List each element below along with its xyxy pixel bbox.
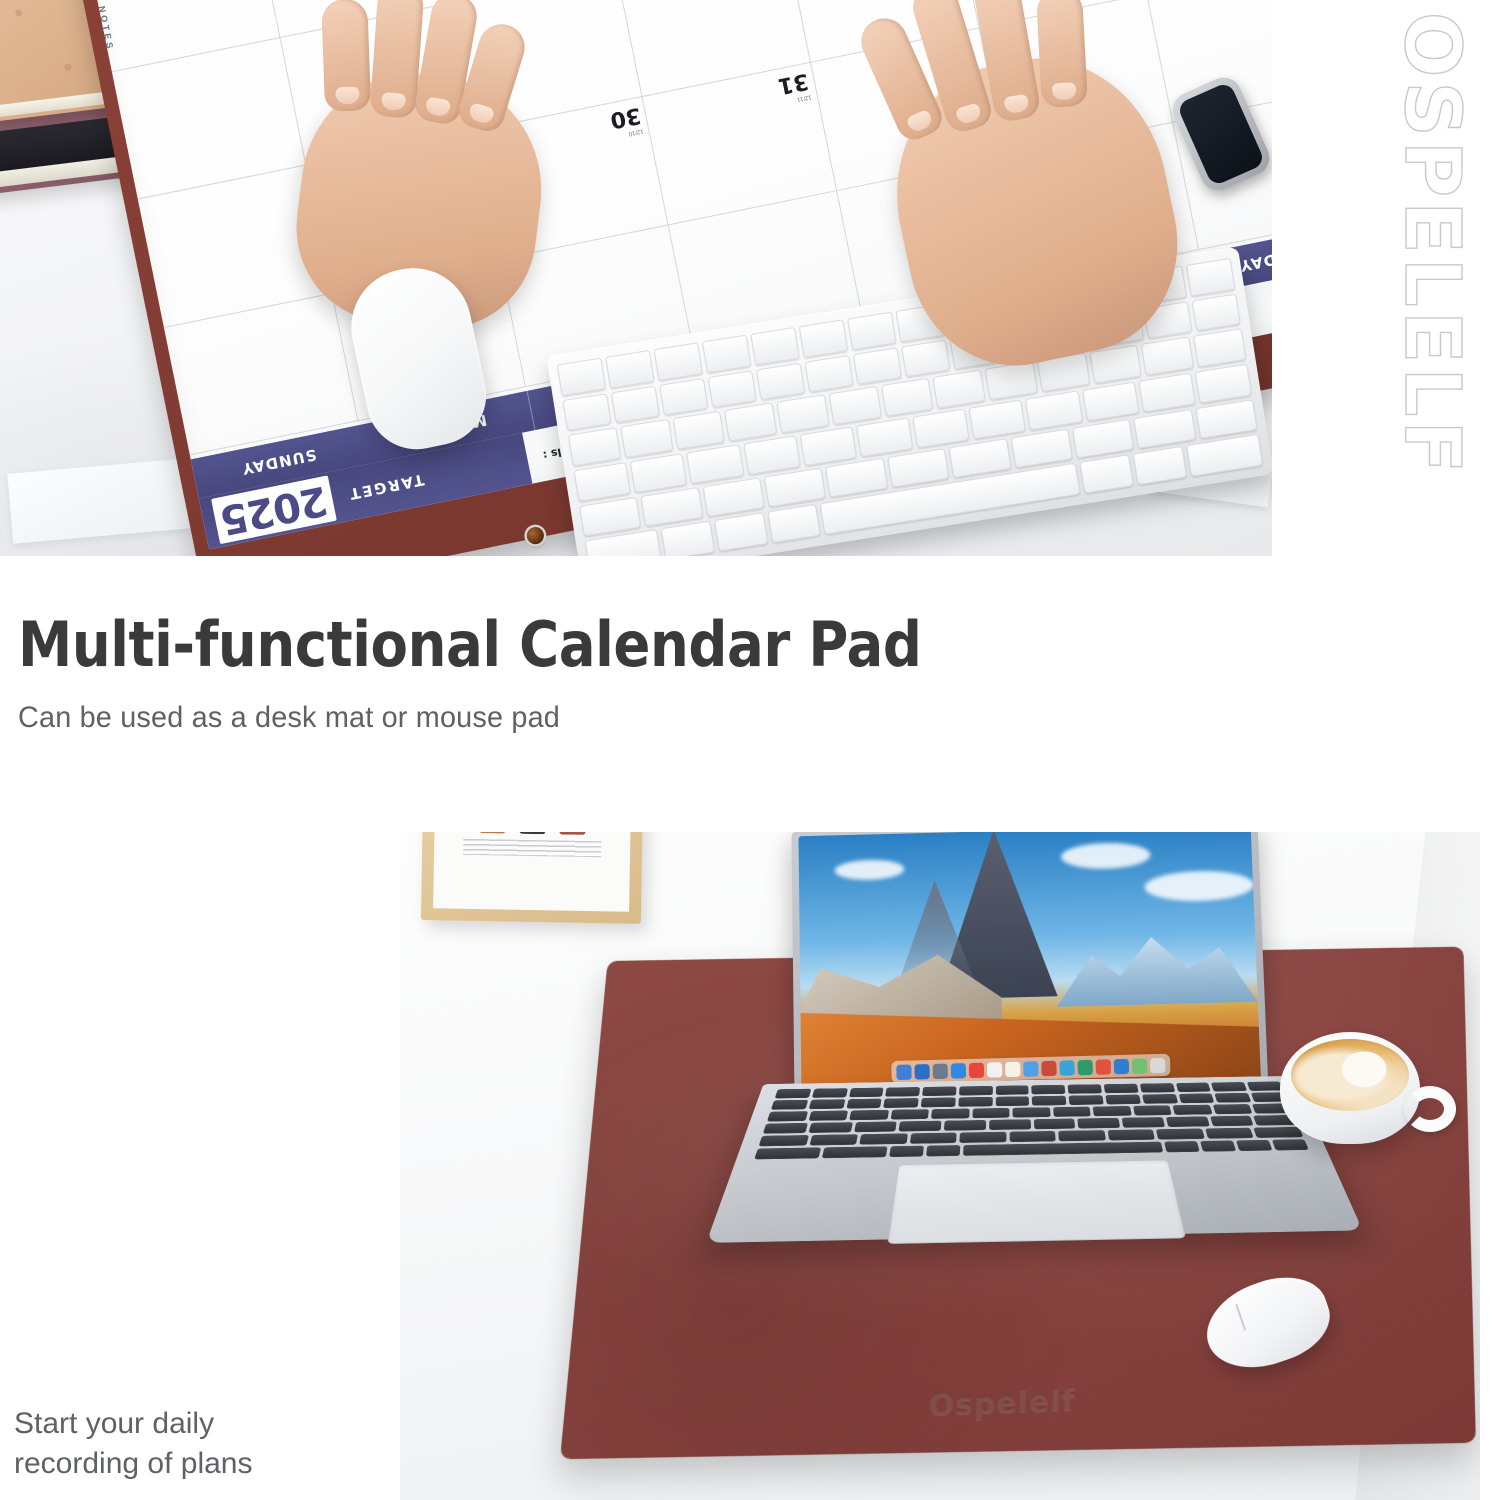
laptop-lid: MacBook Pro [791, 832, 1268, 1104]
keyboard-key [799, 426, 856, 466]
laptop-key [754, 1147, 821, 1159]
keyboard-key [1133, 446, 1187, 485]
keyboard-key [881, 378, 934, 417]
laptop-key [1213, 1104, 1253, 1114]
keyboard-key [654, 342, 703, 380]
keyboard-key [659, 377, 708, 415]
keyboard-key [825, 457, 888, 497]
laptop-key [959, 1086, 993, 1096]
keyboard-key [933, 370, 986, 409]
dock-icon [1023, 1061, 1038, 1077]
keyboard-key [611, 385, 660, 423]
laptop-key [775, 1089, 811, 1099]
keyboard-key [1192, 293, 1241, 331]
target-label: TARGET [346, 470, 425, 503]
product-photo-desk-mat: Ospelelf MacBook Pro [400, 832, 1480, 1500]
date-sub-label: 12/11 [797, 93, 812, 102]
coffee-cup [1280, 1032, 1430, 1152]
keyboard-key [1186, 434, 1263, 477]
keyboard-key [641, 487, 704, 527]
keyboard-key [901, 339, 950, 377]
laptop-key [1215, 1093, 1252, 1103]
laptop-key [926, 1145, 960, 1156]
keyboard-key [661, 521, 715, 556]
laptop-key [849, 1088, 884, 1098]
dock-icon [969, 1062, 984, 1078]
laptop-key [859, 1133, 907, 1144]
caption-line-2: recording of plans [14, 1444, 344, 1484]
laptop-key [890, 1109, 929, 1119]
keyboard-key [708, 370, 757, 408]
laptop-keyboard [754, 1081, 1309, 1159]
dock-icon [1077, 1059, 1093, 1075]
laptop-key [963, 1142, 1163, 1156]
laptop-key [1205, 1128, 1254, 1139]
laptop-key [889, 1146, 924, 1157]
laptop-screen [798, 832, 1260, 1091]
headline-block: Multi-functional Calendar Pad Can be use… [18, 612, 1218, 735]
laptop-key [1236, 1140, 1273, 1151]
latte-art-foam [1291, 1039, 1409, 1111]
plant-icon-1 [479, 832, 505, 834]
keyboard-key [724, 403, 777, 442]
laptop-key [1053, 1107, 1091, 1117]
dock-icon [896, 1064, 911, 1080]
keyboard-key [1082, 382, 1139, 422]
keyboard-key [630, 453, 687, 493]
keyboard-key [1193, 328, 1246, 367]
laptop-key [767, 1111, 808, 1121]
laptop-key [822, 1146, 888, 1158]
keyboard-key [743, 435, 800, 475]
laptop-key [921, 1097, 956, 1107]
laptop-key [1105, 1095, 1140, 1105]
cup-body [1280, 1032, 1420, 1144]
laptop-key [1033, 1119, 1075, 1130]
laptop-key [854, 1121, 897, 1132]
bottom-caption: Start your daily recording of plans [14, 1404, 344, 1483]
laptop-key [1068, 1084, 1102, 1094]
laptop-key [883, 1098, 918, 1108]
laptop-base [706, 1076, 1363, 1243]
keyboard-key [605, 350, 654, 388]
macbook-pro: MacBook Pro [765, 832, 1295, 1342]
dock-icon [933, 1063, 948, 1079]
keyboard-key [579, 496, 642, 536]
dock-icon [914, 1064, 929, 1080]
laptop-key [1009, 1131, 1056, 1142]
laptop-key [1093, 1106, 1132, 1116]
keyboard-key [829, 386, 882, 425]
keyboard-key [767, 504, 821, 543]
laptop-key [1013, 1107, 1051, 1117]
laptop-key [944, 1120, 986, 1131]
keyboard-key [776, 394, 829, 433]
frame-caption-lines [463, 839, 600, 857]
laptop-key [1175, 1083, 1211, 1093]
page-title: Multi-functional Calendar Pad [18, 612, 1074, 677]
dock-icon [1041, 1060, 1057, 1076]
keyboard-key [1141, 337, 1194, 376]
plant-icon-3 [559, 832, 585, 835]
plant-icon-2 [519, 832, 545, 834]
laptop-key [1173, 1105, 1213, 1115]
laptop-key [931, 1109, 969, 1119]
keyboard-key [672, 411, 725, 450]
keyboard-key [912, 408, 969, 448]
laptop-key [1104, 1084, 1139, 1094]
laptop-key [759, 1135, 809, 1146]
keyboard-key [804, 355, 853, 393]
dock-icon [1132, 1058, 1148, 1074]
laptop-key [763, 1123, 808, 1134]
laptop-key [849, 1110, 888, 1120]
keyboard-key [1186, 258, 1235, 296]
keyboard-key [887, 448, 950, 488]
keyboard-key [1195, 364, 1252, 404]
laptop-key [909, 1133, 956, 1144]
keyboard-key [1010, 428, 1073, 468]
dock-icon [1059, 1060, 1075, 1076]
laptop-key [1247, 1081, 1283, 1090]
laptop-key [958, 1097, 992, 1107]
keyboard-key [562, 393, 611, 431]
laptop-key [1156, 1129, 1205, 1140]
mat-embossed-logo: Ospelelf [928, 1381, 1075, 1422]
laptop-key [1032, 1096, 1066, 1106]
laptop-key [1032, 1085, 1066, 1095]
dock-icon [1005, 1061, 1020, 1077]
laptop-key [1178, 1093, 1214, 1103]
keyboard-key [969, 399, 1026, 439]
keyboard-key [574, 462, 631, 502]
laptop-key [1140, 1083, 1175, 1093]
keyboard-key [764, 467, 827, 507]
laptop-key [1069, 1095, 1104, 1105]
laptop-key [771, 1100, 808, 1110]
laptop-key [808, 1110, 848, 1120]
keyboard-key [847, 312, 896, 350]
keyboard-key [620, 419, 673, 458]
laptop-key [996, 1085, 1030, 1095]
keyboard-key [1025, 390, 1082, 430]
keyboard-key [856, 417, 913, 457]
keyboard-key [1072, 418, 1135, 458]
keyboard-key [853, 347, 902, 385]
keyboard-key [1089, 345, 1142, 384]
photo-frame-artwork [433, 832, 631, 912]
brand-watermark-text: OSPELELF [1388, 12, 1477, 477]
laptop-key [1164, 1141, 1200, 1152]
product-photo-desk-calendar: JAN 2025FEB 2025MAR 2025APR 2025MAY 2025… [0, 0, 1272, 556]
laptop-key [899, 1121, 942, 1132]
laptop-key [922, 1086, 956, 1096]
laptop-key [1142, 1094, 1178, 1104]
keyboard-key [949, 438, 1012, 478]
keyboard-key [686, 444, 743, 484]
laptop-key [1200, 1140, 1236, 1151]
keyboard-key [714, 513, 768, 552]
caption-line-1: Start your daily [14, 1404, 344, 1444]
date-sub-label: 12/10 [628, 128, 644, 137]
dock-icon [1114, 1058, 1130, 1074]
laptop-key [809, 1134, 858, 1145]
keyboard-key [799, 319, 848, 357]
brand-watermark: OSPELELF [1372, 0, 1492, 520]
page-subtitle: Can be used as a desk mat or mouse pad [18, 701, 1170, 735]
laptop-key [1122, 1117, 1165, 1128]
laptop-key [1078, 1118, 1121, 1129]
keyboard-key [1138, 373, 1195, 413]
keyboard-key [1195, 399, 1258, 439]
plant-illustrations [479, 832, 585, 835]
keyboard-key [702, 477, 765, 517]
keyboard-key [702, 335, 751, 373]
laptop-key [846, 1099, 882, 1109]
laptop-key [812, 1088, 848, 1098]
keyboard-key [985, 361, 1038, 400]
keyboard-key [756, 362, 805, 400]
dock-icon [1096, 1059, 1112, 1075]
keyboard-key [557, 358, 606, 396]
laptop-key [1107, 1129, 1155, 1140]
laptop-key [1211, 1082, 1247, 1092]
laptop-key [1133, 1105, 1172, 1115]
laptop-key [989, 1119, 1031, 1130]
keyboard-key [750, 327, 799, 365]
laptop-key [1210, 1116, 1254, 1127]
laptop-key [808, 1099, 845, 1109]
cup-handle [1404, 1086, 1456, 1132]
snow-mountains [1055, 925, 1258, 1007]
keyboard-key [1133, 409, 1196, 449]
keyboard-key [568, 427, 621, 466]
dock-icon [1150, 1057, 1166, 1073]
dock-icon [987, 1062, 1002, 1078]
laptop-key [995, 1096, 1029, 1106]
laptop-key [808, 1122, 852, 1133]
laptop-key [960, 1132, 1007, 1143]
dock-icon [951, 1063, 966, 1079]
laptop-key [1058, 1130, 1105, 1141]
photo-frame [421, 832, 643, 924]
laptop-key [885, 1087, 920, 1097]
laptop-key [1166, 1116, 1210, 1127]
laptop-trackpad [888, 1160, 1186, 1244]
laptop-key [972, 1108, 1010, 1118]
keyboard-key [1080, 455, 1134, 494]
